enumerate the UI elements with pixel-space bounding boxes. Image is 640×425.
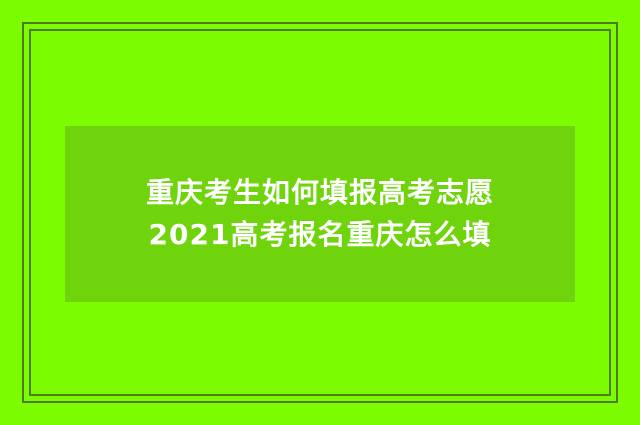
headline-line-2: 2021高考报名重庆怎么填 — [149, 215, 492, 255]
headline-line-1: 重庆考生如何填报高考志愿 — [146, 173, 494, 213]
poster-canvas: 重庆考生如何填报高考志愿 2021高考报名重庆怎么填 — [0, 0, 640, 425]
headline-panel: 重庆考生如何填报高考志愿 2021高考报名重庆怎么填 — [65, 126, 575, 302]
